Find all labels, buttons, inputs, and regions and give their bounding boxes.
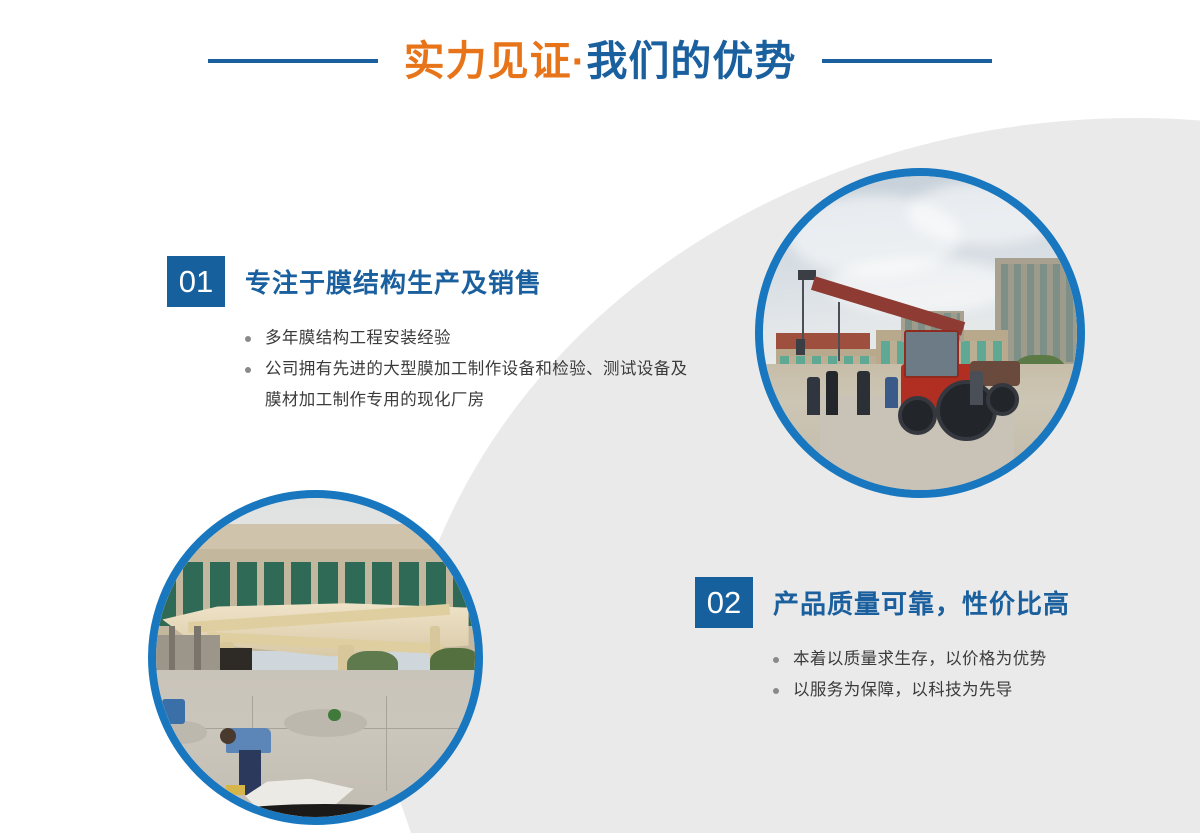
yellow-marker: [226, 785, 245, 795]
bullet-text: 多年膜结构工程安装经验: [265, 329, 451, 347]
page-header: 实力见证·我们的优势: [0, 22, 1200, 100]
feature-02-bullet-list: 本着以质量求生存，以价格为优势 以服务为保障，以科技为先导: [773, 644, 1070, 706]
worker: [857, 371, 870, 415]
photo-crane-tractor-construction-site: [755, 168, 1085, 498]
page-title-blue: 我们的优势: [586, 38, 796, 84]
list-item: 以服务为保障，以科技为先导: [773, 675, 1070, 706]
feature-01-head: 01 专注于膜结构生产及销售: [167, 256, 695, 307]
feature-02-title: 产品质量可靠，性价比高: [773, 584, 1070, 621]
header-rule-right: [822, 59, 992, 63]
feature-block-01: 01 专注于膜结构生产及销售 多年膜结构工程安装经验 公司拥有先进的大型膜加工制…: [167, 256, 695, 432]
worker: [826, 371, 839, 415]
bullet-text: 本着以质量求生存，以价格为优势: [793, 650, 1047, 668]
cloud: [826, 258, 1014, 315]
ground-seam: [386, 696, 387, 792]
rubble: [156, 721, 207, 743]
photo-crane-inner: [763, 176, 1077, 490]
cloud: [907, 182, 1064, 245]
bullet-dot-icon: [245, 367, 251, 373]
rubble: [284, 709, 367, 738]
crane-cable: [838, 302, 840, 362]
bullet-dot-icon: [773, 688, 779, 694]
list-item: 本着以质量求生存，以价格为优势: [773, 644, 1070, 675]
header-rule-left: [208, 59, 378, 63]
advantages-banner: 实力见证·我们的优势 01 专注于膜结构生产及销售 多年膜结构工程安装经验 公司…: [0, 0, 1200, 833]
crane-hook: [796, 339, 805, 355]
feature-02-head: 02 产品质量可靠，性价比高: [695, 577, 1070, 628]
worker: [807, 377, 820, 415]
feature-block-02: 02 产品质量可靠，性价比高 本着以质量求生存，以价格为优势 以服务为保障，以科…: [695, 577, 1070, 722]
photo-canopy-inner: [156, 498, 475, 817]
bullet-text: 公司拥有先进的大型膜加工制作设备和检验、测试设备及膜材加工制作专用的现化厂房: [265, 360, 688, 409]
building-parapet: [156, 524, 475, 550]
page-title-orange: 实力见证·: [404, 38, 587, 84]
page-title: 实力见证·我们的优势: [404, 41, 797, 82]
blue-barrel: [162, 699, 184, 725]
feature-01-number-badge: 01: [167, 256, 225, 307]
feature-01-bullet-list: 多年膜结构工程安装经验 公司拥有先进的大型膜加工制作设备和检验、测试设备及膜材加…: [245, 323, 695, 416]
bullet-dot-icon: [773, 657, 779, 663]
photo-membrane-canopy-worker: [148, 490, 483, 825]
list-item: 公司拥有先进的大型膜加工制作设备和检验、测试设备及膜材加工制作专用的现化厂房: [245, 354, 695, 416]
worker: [970, 371, 983, 406]
tractor-cab: [904, 330, 958, 378]
feature-01-title: 专注于膜结构生产及销售: [245, 263, 542, 300]
green-bucket: [328, 709, 341, 722]
worker: [885, 377, 898, 408]
bullet-text: 以服务为保障，以科技为先导: [793, 681, 1013, 699]
bullet-dot-icon: [245, 336, 251, 342]
list-item: 多年膜结构工程安装经验: [245, 323, 695, 354]
worker-head: [220, 728, 236, 744]
feature-02-number-badge: 02: [695, 577, 753, 628]
